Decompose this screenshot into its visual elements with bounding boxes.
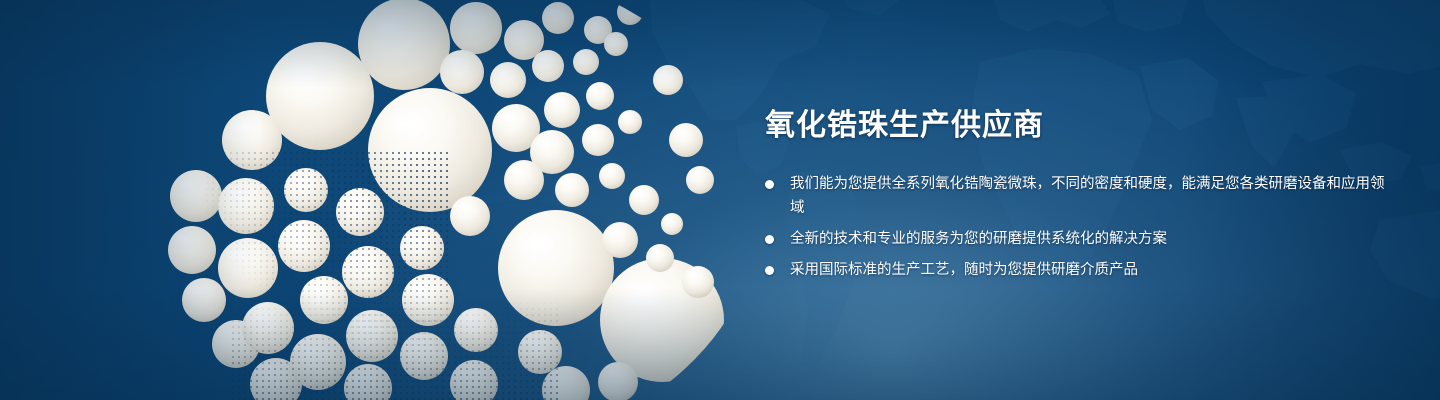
feature-list-item: 全新的技术和专业的服务为您的研磨提供系统化的解决方案 (765, 227, 1385, 251)
bullet-dot-icon (765, 180, 774, 189)
hero-banner: 氧化锆珠生产供应商 我们能为您提供全系列氧化锆陶瓷微珠，不同的密度和硬度，能满足… (0, 0, 1440, 400)
feature-list-item: 我们能为您提供全系列氧化锆陶瓷微珠，不同的密度和硬度，能满足您各类研磨设备和应用… (765, 172, 1385, 220)
feature-text: 全新的技术和专业的服务为您的研磨提供系统化的解决方案 (790, 227, 1385, 251)
feature-text: 采用国际标准的生产工艺，随时为您提供研磨介质产品 (790, 258, 1385, 282)
banner-copy: 氧化锆珠生产供应商 我们能为您提供全系列氧化锆陶瓷微珠，不同的密度和硬度，能满足… (765, 108, 1385, 282)
banner-headline: 氧化锆珠生产供应商 (765, 108, 1385, 144)
bullet-dot-icon (765, 235, 774, 244)
feature-text: 我们能为您提供全系列氧化锆陶瓷微珠，不同的密度和硬度，能满足您各类研磨设备和应用… (790, 172, 1385, 220)
banner-feature-list: 我们能为您提供全系列氧化锆陶瓷微珠，不同的密度和硬度，能满足您各类研磨设备和应用… (765, 172, 1385, 282)
feature-list-item: 采用国际标准的生产工艺，随时为您提供研磨介质产品 (765, 258, 1385, 282)
bullet-dot-icon (765, 266, 774, 275)
